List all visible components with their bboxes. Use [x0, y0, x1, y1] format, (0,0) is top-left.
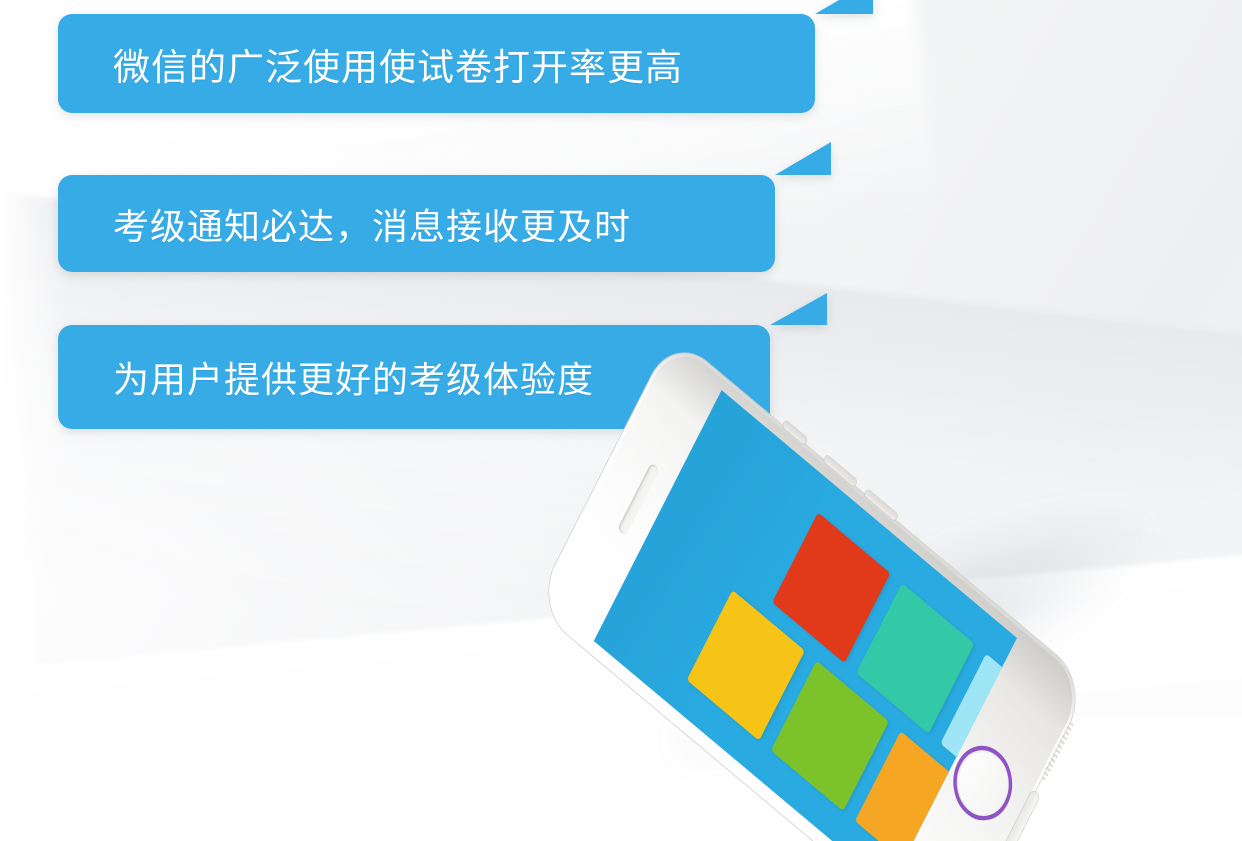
slide-canvas: 微信的广泛使用使试卷打开率更高 考级通知必达，消息接收更及时 为用户提供更好的考…	[0, 0, 1242, 841]
speech-bubble-3-tail-icon	[770, 293, 827, 325]
speech-bubble-1-label: 微信的广泛使用使试卷打开率更高	[113, 37, 683, 91]
speech-bubble-2-tail-icon	[775, 142, 831, 175]
phone-illustration	[612, 322, 1212, 742]
speech-bubble-2-label: 考级通知必达，消息接收更及时	[113, 198, 631, 250]
speech-bubble-1-tail-icon	[815, 0, 873, 14]
speech-bubble-1[interactable]: 微信的广泛使用使试卷打开率更高	[58, 14, 815, 113]
speech-bubble-3-label: 为用户提供更好的考级体验度	[113, 351, 594, 403]
speech-bubble-2[interactable]: 考级通知必达，消息接收更及时	[58, 175, 775, 272]
